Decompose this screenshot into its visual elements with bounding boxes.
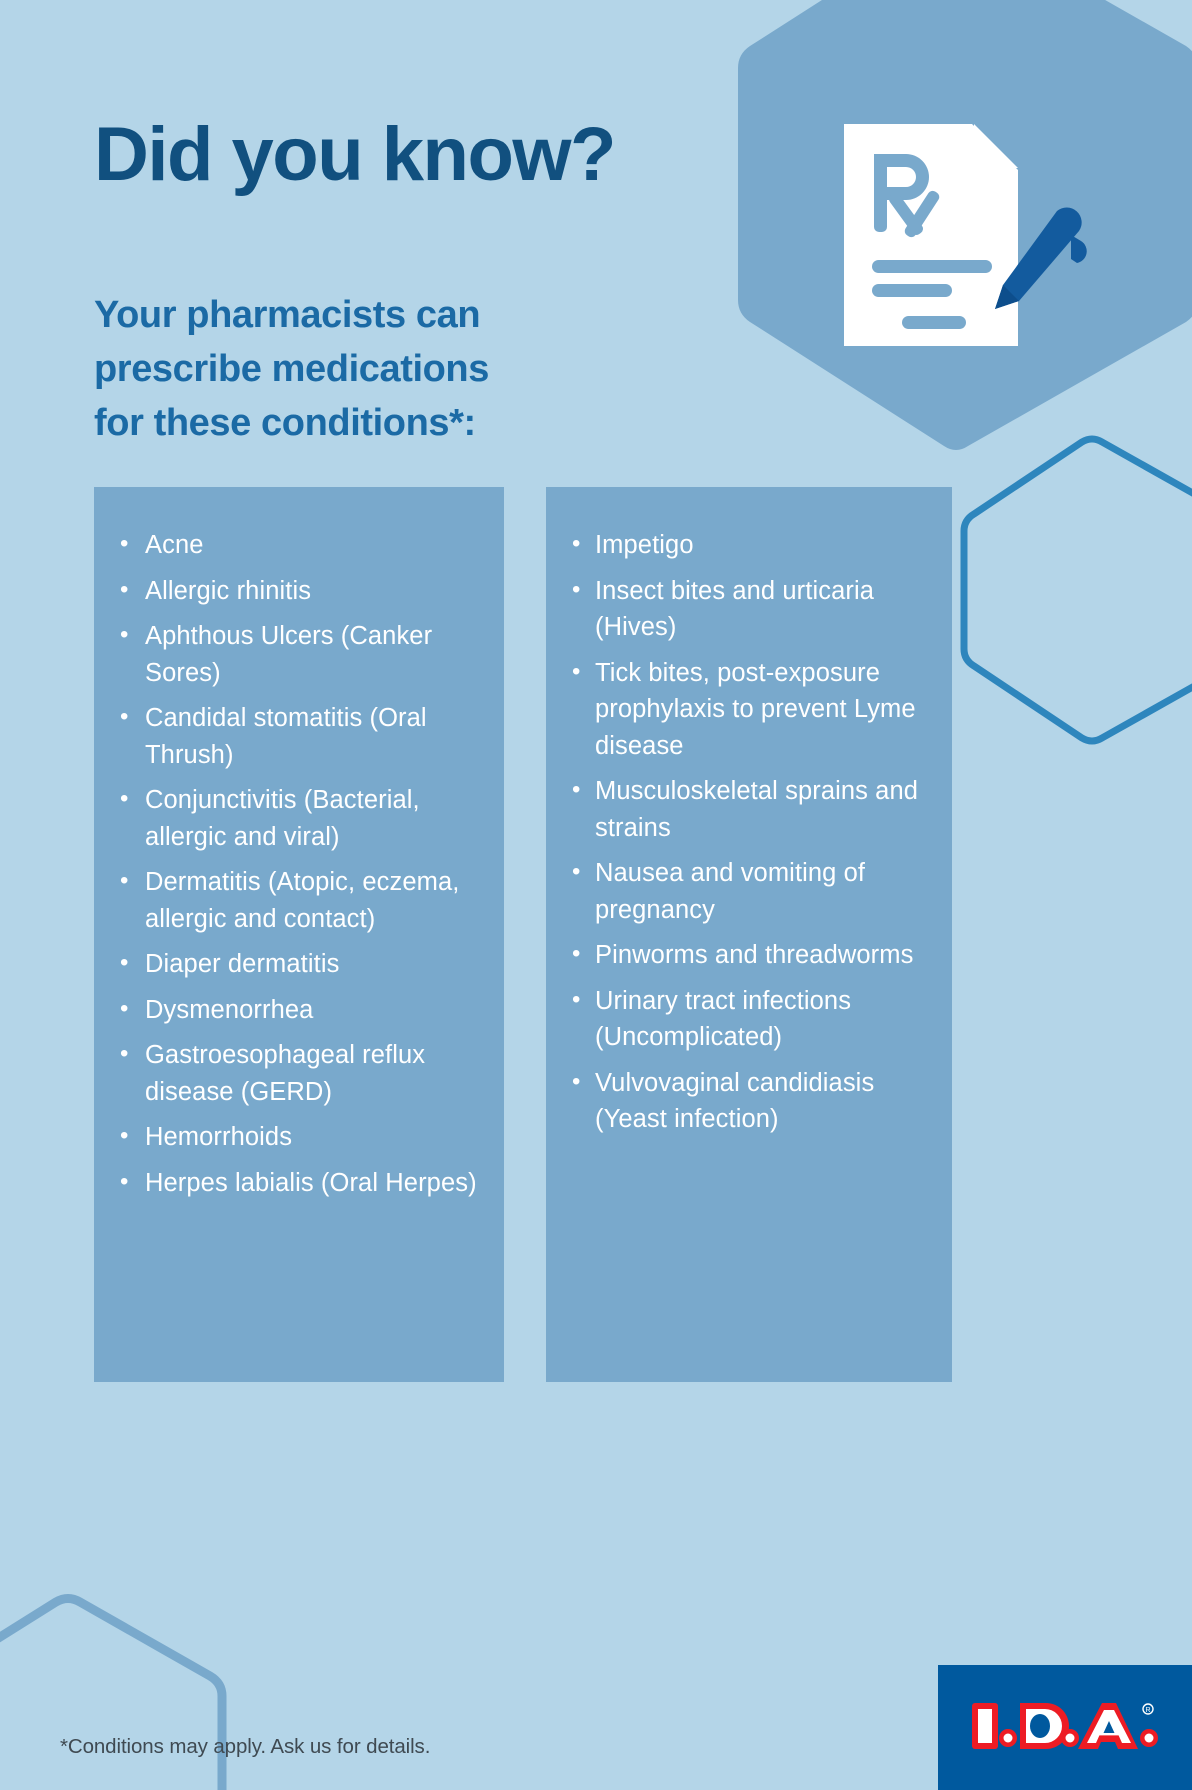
list-item: Conjunctivitis (Bacterial, allergic and … — [112, 782, 486, 855]
page-subtitle: Your pharmacists can prescribe medicatio… — [94, 289, 654, 451]
conditions-panel-right: Impetigo Insect bites and urticaria (Hiv… — [546, 487, 952, 1382]
list-item: Hemorrhoids — [112, 1119, 486, 1156]
page-subtitle-line-2: prescribe medications — [94, 343, 654, 397]
list-item: Gastroesophageal reflux disease (GERD) — [112, 1037, 486, 1110]
page-subtitle-line-3: for these conditions*: — [94, 397, 654, 451]
hexagon-outline-shape-bottom — [0, 1590, 250, 1790]
conditions-list-left: Acne Allergic rhinitis Aphthous Ulcers (… — [112, 527, 486, 1201]
list-item: Nausea and vomiting of pregnancy — [564, 855, 934, 928]
list-item: Urinary tract infections (Uncomplicated) — [564, 983, 934, 1056]
list-item: Allergic rhinitis — [112, 573, 486, 610]
list-item: Candidal stomatitis (Oral Thrush) — [112, 700, 486, 773]
list-item: Vulvovaginal candidiasis (Yeast infectio… — [564, 1065, 934, 1138]
list-item: Insect bites and urticaria (Hives) — [564, 573, 934, 646]
hexagon-shape — [738, 0, 1192, 454]
page-subtitle-line-1: Your pharmacists can — [94, 289, 654, 343]
list-item: Pinworms and threadworms — [564, 937, 934, 974]
list-item: Diaper dermatitis — [112, 946, 486, 983]
prescription-rx-document-icon — [840, 120, 1040, 350]
ida-logo: R — [938, 1665, 1192, 1790]
footnote-text: *Conditions may apply. Ask us for detail… — [60, 1735, 430, 1759]
list-item: Musculoskeletal sprains and strains — [564, 773, 934, 846]
hexagon-outline-shape — [952, 430, 1192, 750]
poster-canvas: Did you know? Your pharmacists can presc… — [0, 0, 1192, 1790]
list-item: Dermatitis (Atopic, eczema, allergic and… — [112, 864, 486, 937]
list-item: Acne — [112, 527, 486, 564]
list-item: Herpes labialis (Oral Herpes) — [112, 1165, 486, 1202]
conditions-panel-left: Acne Allergic rhinitis Aphthous Ulcers (… — [94, 487, 504, 1382]
list-item: Impetigo — [564, 527, 934, 564]
page-title: Did you know? — [94, 117, 615, 193]
conditions-list-right: Impetigo Insect bites and urticaria (Hiv… — [564, 527, 934, 1138]
list-item: Dysmenorrhea — [112, 992, 486, 1029]
pencil-icon — [985, 205, 1095, 335]
svg-text:R: R — [1145, 1707, 1150, 1714]
ida-logo-mark: R — [968, 1695, 1164, 1757]
list-item: Aphthous Ulcers (Canker Sores) — [112, 618, 486, 691]
list-item: Tick bites, post-exposure prophylaxis to… — [564, 655, 934, 765]
